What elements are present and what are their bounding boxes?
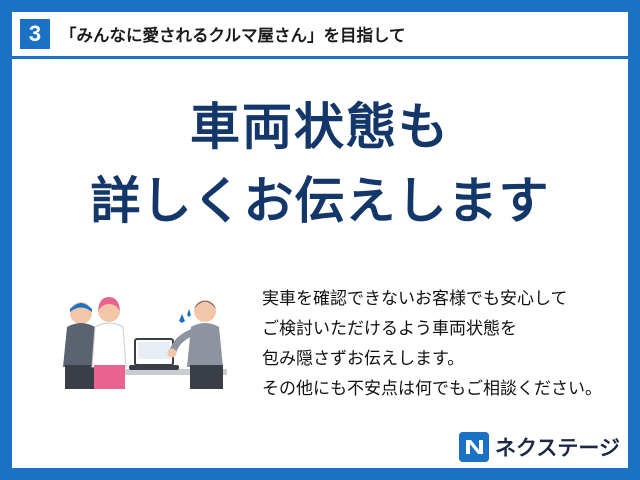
frame-border-bottom: [0, 468, 640, 480]
brand-name: ネクステージ: [495, 432, 620, 462]
section-number-badge: 3: [20, 19, 50, 49]
body-line: その他にも不安点は何でもご相談ください。: [262, 374, 622, 404]
headline-block: 車両状態も 詳しくお伝えします: [12, 96, 628, 232]
headline-line-2: 詳しくお伝えします: [12, 170, 628, 232]
n-logo-icon: [459, 432, 489, 462]
body-text-block: 実車を確認できないお客様でも安心して ご検討いただけるよう車両状態を 包み隠さず…: [262, 284, 622, 404]
body-line: 包み隠さずお伝えします。: [262, 344, 622, 374]
brand-logo: ネクステージ: [459, 432, 620, 462]
staff-and-customers-at-counter-illustration: [57, 277, 272, 392]
body-line: 実車を確認できないお客様でも安心して: [262, 284, 622, 314]
header-title: 「みんなに愛されるクルマ屋さん」を目指して: [60, 22, 406, 46]
frame-border-right: [628, 0, 640, 480]
advertisement-page: 3 「みんなに愛されるクルマ屋さん」を目指して 車両状態も 詳しくお伝えします: [0, 0, 640, 480]
frame-border-left: [0, 0, 12, 480]
header: 3 「みんなに愛されるクルマ屋さん」を目指して: [12, 12, 628, 56]
body-line: ご検討いただけるよう車両状態を: [262, 314, 622, 344]
headline-line-1: 車両状態も: [12, 96, 628, 158]
content-area: 3 「みんなに愛されるクルマ屋さん」を目指して 車両状態も 詳しくお伝えします: [12, 12, 628, 468]
frame-border-top: [0, 0, 640, 12]
header-divider: [12, 56, 628, 59]
